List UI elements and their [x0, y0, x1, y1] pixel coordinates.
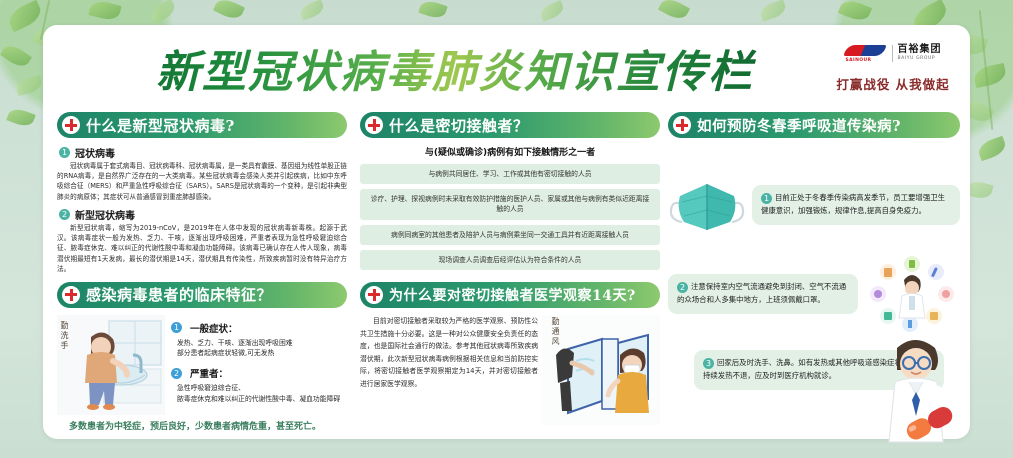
close-contact-lead: 与(疑似或确诊)病例有如下接触情形之一者: [360, 145, 660, 158]
bullet-number: 2: [677, 282, 688, 293]
symptom-body: 发热、乏力、干咳、逐渐出现呼吸困难 部分患者起病症状轻微,可无发热: [177, 338, 347, 358]
leaf-icon: [6, 106, 36, 129]
prevention-tip-text: 2注意保持室内空气流通避免到封闭、空气不流通的众场合和人多集中地方，上班须佩戴口…: [668, 274, 858, 314]
brand-name-en: BAIYU GROUP: [898, 57, 942, 62]
red-cross-icon: [673, 116, 691, 134]
clinical-conclusion: 多数患者为中轻症，预后良好，少数患者病情危重，甚至死亡。: [57, 421, 347, 435]
leaf-icon: [658, 0, 690, 23]
close-contact-item: 与病例共同居住、学习、工作或其他有密切接触的人员: [360, 164, 660, 184]
brand-mark-text: SAINOUR: [846, 58, 872, 63]
close-contact-item: 现场调查人员调查后经评估认为符合条件的人员: [360, 250, 660, 270]
red-cross-icon: [365, 286, 383, 304]
column-left: 什么是新型冠状病毒? 1 冠状病毒 冠状病毒属于套式病毒目、冠状病毒科、冠状病毒…: [57, 112, 347, 434]
symptom-title: 严重者：: [190, 366, 228, 380]
face-mask-icon: [668, 176, 746, 234]
leaf-icon: [298, 0, 325, 21]
brand-divider: [892, 45, 893, 62]
observation-block: 目前对密切接触者采取较为严格的医学观察、预防性公共卫生措施十分必要。这是一种对公…: [360, 315, 660, 425]
ventilation-illustration: 勤通风: [542, 315, 660, 425]
leaf-icon: [213, 0, 245, 22]
section-title: 如何预防冬春季呼吸道传染病?: [697, 115, 901, 136]
clinical-block: 勤洗手: [57, 315, 347, 415]
column-middle: 什么是密切接触者？ 与(疑似或确诊)病例有如下接触情形之一者 与病例共同居住、学…: [360, 112, 660, 425]
section-title: 什么是密切接触者？: [389, 115, 529, 136]
brand-logo: SAINOUR 百裕集团 BAIYU GROUP: [818, 44, 968, 62]
red-cross-icon: [62, 286, 80, 304]
bullet-number: 3: [703, 358, 714, 369]
handwashing-illustration: 勤洗手: [57, 315, 165, 415]
symptom-heading: 2 严重者：: [171, 366, 347, 380]
bullet-number: 1: [171, 322, 182, 333]
leaf-icon: [88, 0, 121, 23]
symptom-title: 一般症状：: [190, 321, 238, 335]
bullet-number: 2: [171, 368, 182, 379]
section-title: 为什么要对密切接触者医学观察14天?: [389, 285, 636, 305]
page-title: 新型冠状病毒肺炎知识宣传栏: [110, 42, 800, 104]
prevention-tip-2: 2注意保持室内空气流通避免到封闭、空气不流通的众场合和人多集中地方，上班须佩戴口…: [668, 256, 960, 332]
medical-services-ring-illustration: [864, 256, 960, 332]
observation-body: 目前对密切接触者采取较为严格的医学观察、预防性公共卫生措施十分必要。这是一种对公…: [360, 315, 538, 425]
symptoms-text: 1 一般症状： 发热、乏力、干咳、逐渐出现呼吸困难 部分患者起病症状轻微,可无发…: [171, 315, 347, 415]
subsection-heading: 2 新型冠状病毒: [59, 207, 347, 222]
section-header-14-day-observation: 为什么要对密切接触者医学观察14天?: [360, 282, 660, 308]
section-header-what-is-virus: 什么是新型冠状病毒?: [57, 112, 347, 138]
handwashing-caption: 勤洗手: [59, 321, 70, 351]
leaf-icon: [758, 0, 787, 22]
section-header-close-contact: 什么是密切接触者？: [360, 112, 660, 138]
subsection-body: 新型冠状病毒，缩写为2019-nCoV，是2019年在人体中发现的冠状病毒新毒株…: [57, 223, 347, 274]
poster-canvas: 新型冠状病毒肺炎知识宣传栏 SAINOUR 百裕集团 BAIYU GROUP 打…: [0, 0, 1013, 458]
section-header-prevention: 如何预防冬春季呼吸道传染病?: [668, 112, 960, 138]
leaf-icon: [976, 136, 1008, 162]
leaf-icon: [538, 0, 565, 22]
red-cross-icon: [62, 116, 80, 134]
leaf-icon: [838, 0, 872, 24]
close-contact-item: 诊疗、护理、探视病例时未采取有效防护措施的医护人员、家属或其他与病例有类似近距离…: [360, 189, 660, 219]
subsection-title: 新型冠状病毒: [75, 207, 135, 222]
leaf-icon: [148, 0, 178, 24]
section-title: 感染病毒患者的临床特征？: [86, 284, 272, 305]
prevention-tip-text: 1目前正处于冬春季传染病高发季节，员工要增强卫生健康意识，加强锻炼，规律作息,提…: [752, 185, 960, 225]
brand-name-cn: 百裕集团: [898, 45, 942, 55]
subsection-body: 冠状病毒属于套式病毒目、冠状病毒科、冠状病毒属，是一类具有囊膜、基因组为线性单股…: [57, 161, 347, 202]
capsule-icon: [903, 406, 957, 440]
leaf-icon: [972, 63, 1007, 88]
leaf-icon: [5, 0, 44, 32]
leaf-icon: [0, 41, 32, 70]
leaf-icon: [418, 0, 447, 21]
tip-body: 目前正处于冬春季传染病高发季节，员工要增强卫生健康意识，加强锻炼，规律作息,提高…: [761, 193, 945, 215]
bullet-number: 1: [761, 193, 772, 204]
company-mark-icon: SAINOUR: [845, 44, 887, 62]
symptom-body: 急性呼吸窘迫综合征、 脓毒症休克和难以纠正的代谢性酸中毒、凝血功能障碍: [177, 383, 347, 403]
subsection-heading: 1 冠状病毒: [59, 145, 347, 160]
section-title: 什么是新型冠状病毒?: [86, 115, 235, 136]
brand-block: SAINOUR 百裕集团 BAIYU GROUP 打赢战役 从我做起: [818, 44, 968, 93]
section-header-clinical-features: 感染病毒患者的临床特征？: [57, 282, 347, 308]
bullet-number: 2: [59, 209, 70, 220]
leaf-icon: [15, 75, 44, 96]
prevention-tip-1: 1目前正处于冬春季传染病高发季节，员工要增强卫生健康意识，加强锻炼，规律作息,提…: [668, 176, 960, 234]
subsection-title: 冠状病毒: [75, 145, 115, 160]
ventilation-caption: 勤通风: [550, 317, 561, 347]
close-contact-item: 病例同病室的其他患者及陪护人员与病例乘坐同一交通工具并有近距离接触人员: [360, 225, 660, 245]
red-cross-icon: [365, 116, 383, 134]
symptom-heading: 1 一般症状：: [171, 321, 347, 335]
brand-slogan: 打赢战役 从我做起: [818, 74, 968, 93]
tip-body: 注意保持室内空气流通避免到封闭、空气不流通的众场合和人多集中地方，上班须佩戴口罩…: [677, 282, 846, 304]
bullet-number: 1: [59, 147, 70, 158]
